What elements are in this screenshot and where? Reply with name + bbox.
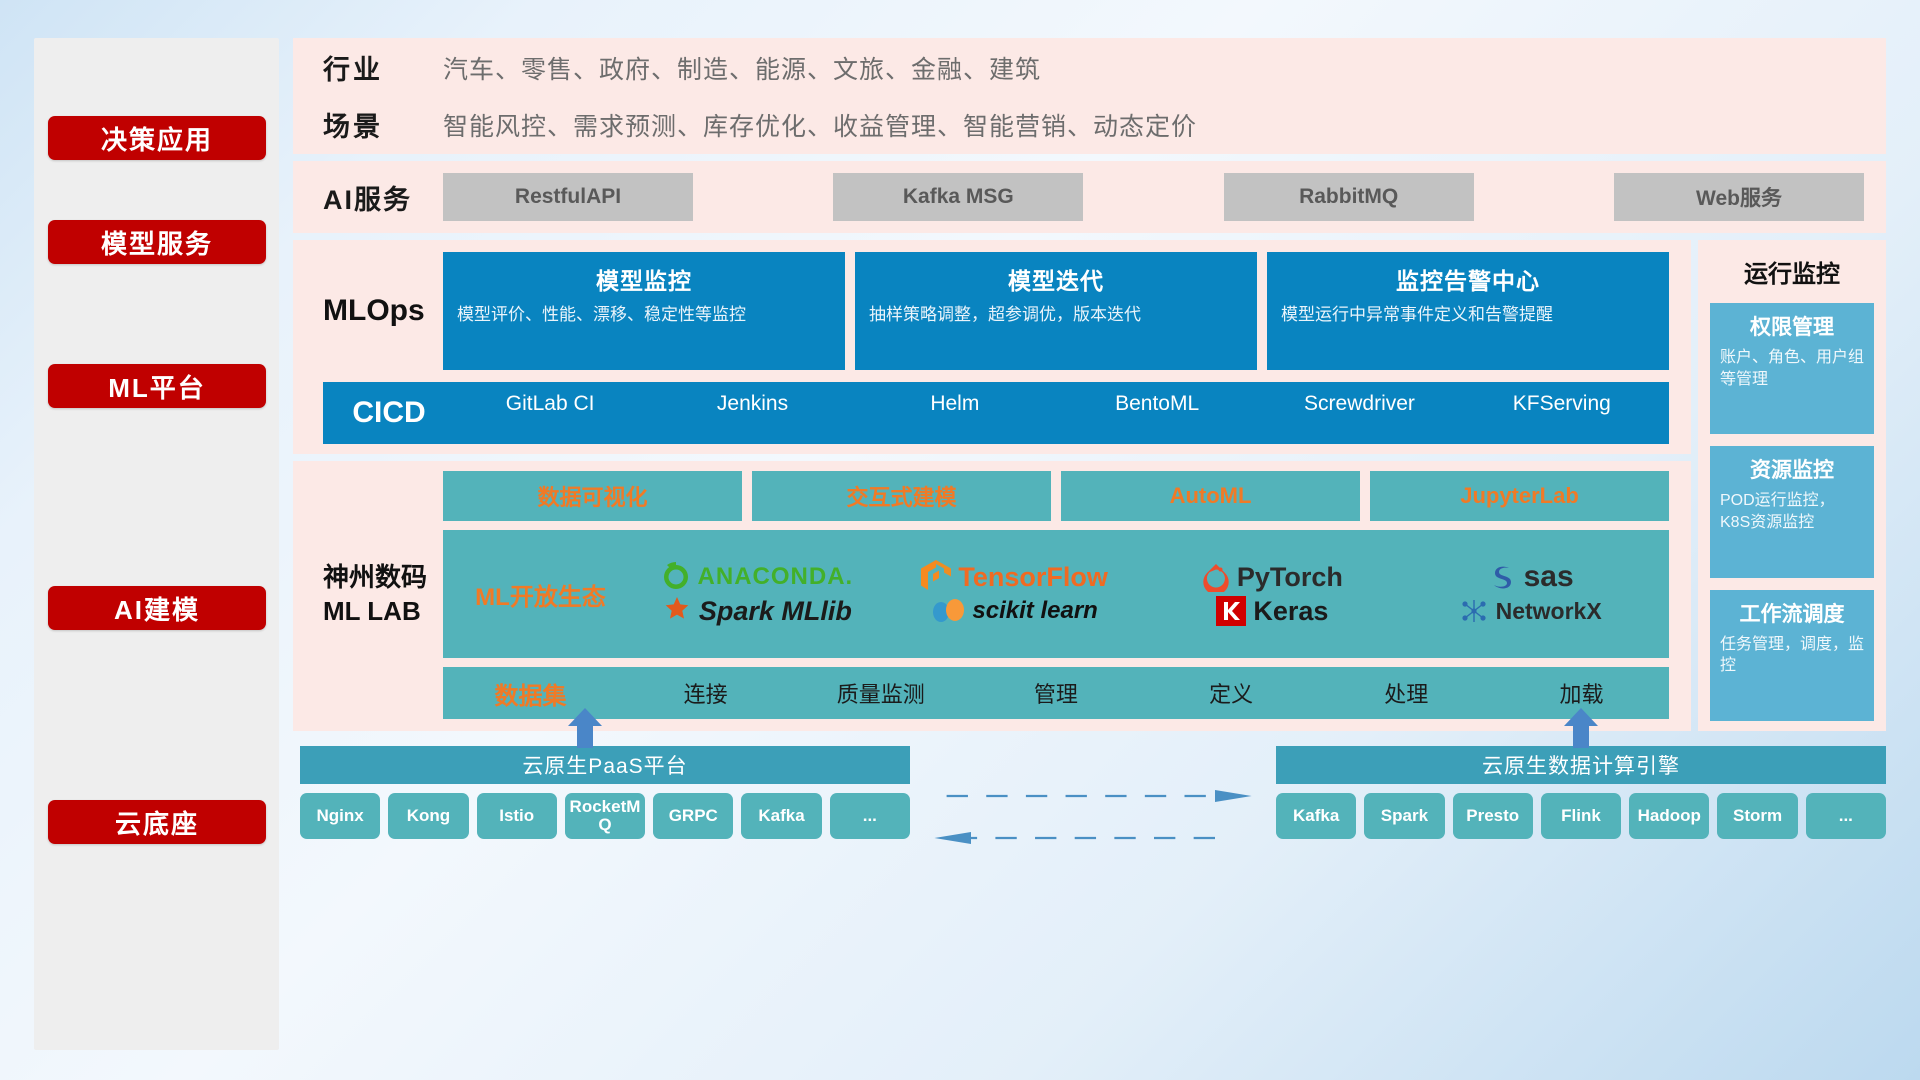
- sas-icon: [1487, 562, 1517, 592]
- main-column: 行业 汽车、零售、政府、制造、能源、文旅、金融、建筑 场景 智能风控、需求预测、…: [293, 38, 1886, 1050]
- mlops-card-model-iteration[interactable]: 模型迭代 抽样策略调整，超参调优，版本迭代: [855, 252, 1257, 370]
- arrow-up-data-engine-icon: [1564, 708, 1598, 748]
- sidebar-item-decision-app[interactable]: 决策应用: [48, 116, 266, 160]
- ml-lab-title-line2: ML LAB: [323, 595, 427, 629]
- industry-values: 汽车、零售、政府、制造、能源、文旅、金融、建筑: [443, 50, 1041, 86]
- logo-networkx: NetworkX: [1459, 596, 1602, 626]
- sidebar-item-ml-platform[interactable]: ML平台: [48, 364, 266, 408]
- runtime-monitoring-column: 运行监控 权限管理 账户、角色、用户组等管理 资源监控 POD运行监控，K8S资…: [1698, 240, 1886, 731]
- monitor-card-resource[interactable]: 资源监控 POD运行监控，K8S资源监控: [1710, 446, 1874, 577]
- chip-storm[interactable]: Storm: [1717, 793, 1797, 839]
- modeling-tab-row: 数据可视化 交互式建模 AutoML JupyterLab: [443, 471, 1669, 521]
- logo-tensorflow: TensorFlow: [921, 560, 1108, 594]
- dataset-item-define[interactable]: 定义: [1144, 677, 1319, 709]
- spark-icon: [662, 596, 692, 626]
- logo-scikit-learn: scikit learn: [931, 596, 1097, 626]
- mlops-card-title: 模型监控: [457, 262, 831, 296]
- cicd-band: CICD GitLab CI Jenkins Helm BentoML Scre…: [293, 382, 1691, 454]
- ai-service-box-kafka-msg[interactable]: Kafka MSG: [833, 173, 1083, 221]
- chip-more-left[interactable]: ...: [830, 793, 910, 839]
- dataset-row: 数据集 连接 质量监测 管理 定义 处理 加载: [443, 667, 1669, 719]
- chip-nginx[interactable]: Nginx: [300, 793, 380, 839]
- platform-column: MLOps 模型监控 模型评价、性能、漂移、稳定性等监控 模型迭代 抽样策略调整…: [293, 240, 1691, 731]
- cloud-link-arrows: [910, 746, 1276, 876]
- logo-anaconda: ANACONDA.: [661, 562, 854, 592]
- cicd-item-helm[interactable]: Helm: [854, 391, 1056, 435]
- chip-grpc[interactable]: GRPC: [653, 793, 733, 839]
- logo-keras: Keras: [1216, 596, 1328, 627]
- cicd-item-screwdriver[interactable]: Screwdriver: [1258, 391, 1460, 435]
- cicd-item-jenkins[interactable]: Jenkins: [651, 391, 853, 435]
- ai-service-box-rabbitmq[interactable]: RabbitMQ: [1224, 173, 1474, 221]
- sidebar-item-label: 模型服务: [101, 224, 213, 261]
- mlops-card-desc: 抽样策略调整，超参调优，版本迭代: [869, 304, 1243, 327]
- dataset-item-connect[interactable]: 连接: [618, 677, 793, 709]
- logo-label: ANACONDA.: [698, 563, 854, 591]
- ml-lab-title-line1: 神州数码: [323, 561, 427, 595]
- logo-label: NetworkX: [1496, 598, 1602, 625]
- runtime-monitoring-title: 运行监控: [1710, 254, 1874, 289]
- tab-automl[interactable]: AutoML: [1061, 471, 1360, 521]
- monitor-card-workflow[interactable]: 工作流调度 任务管理，调度，监控: [1710, 590, 1874, 721]
- arrow-up-paas-icon: [568, 708, 602, 748]
- sidebar-item-label: 决策应用: [101, 120, 213, 157]
- dataset-item-load[interactable]: 加载: [1494, 677, 1669, 709]
- chip-kafka[interactable]: Kafka: [741, 793, 821, 839]
- mlops-card-alert-center[interactable]: 监控告警中心 模型运行中异常事件定义和告警提醒: [1267, 252, 1669, 370]
- monitor-card-desc: 任务管理，调度，监控: [1720, 634, 1864, 677]
- chip-presto[interactable]: Presto: [1453, 793, 1533, 839]
- tab-interactive-modeling[interactable]: 交互式建模: [752, 471, 1051, 521]
- cicd-item-kfserving[interactable]: KFServing: [1461, 391, 1663, 435]
- cloud-foundation-row: 云原生PaaS平台 Nginx Kong Istio RocketMQ GRPC…: [293, 746, 1886, 876]
- sidebar-item-label: AI建模: [114, 590, 200, 627]
- ai-service-box-web[interactable]: Web服务: [1614, 173, 1864, 221]
- ai-modeling-band: 神州数码 ML LAB 数据可视化 交互式建模 AutoML JupyterLa…: [293, 461, 1691, 731]
- logo-label: TensorFlow: [958, 562, 1108, 593]
- ml-ecosystem-panel: ML开放生态 ANACONDA.: [443, 530, 1669, 658]
- monitor-card-desc: 账户、角色、用户组等管理: [1720, 347, 1864, 390]
- keras-icon: [1216, 596, 1246, 626]
- bidirectional-dashed-arrows-icon: [910, 746, 1276, 876]
- dataset-item-quality-monitor[interactable]: 质量监测: [793, 677, 968, 709]
- mlops-band: MLOps 模型监控 模型评价、性能、漂移、稳定性等监控 模型迭代 抽样策略调整…: [293, 240, 1691, 382]
- cloud-data-engine-group: 云原生数据计算引擎 Kafka Spark Presto Flink Hadoo…: [1276, 746, 1886, 876]
- mlops-card-desc: 模型评价、性能、漂移、稳定性等监控: [457, 304, 831, 327]
- logo-sas: sas: [1487, 560, 1574, 594]
- dataset-item-process[interactable]: 处理: [1319, 677, 1494, 709]
- scenario-label: 场景: [323, 105, 443, 144]
- ml-ecosystem-label: ML开放生态: [453, 577, 628, 612]
- monitor-card-title: 工作流调度: [1720, 598, 1864, 628]
- cloud-paas-group: 云原生PaaS平台 Nginx Kong Istio RocketMQ GRPC…: [300, 746, 910, 876]
- sidebar-item-label: 云底座: [115, 804, 199, 841]
- dataset-item-manage[interactable]: 管理: [968, 677, 1143, 709]
- mlops-card-model-monitor[interactable]: 模型监控 模型评价、性能、漂移、稳定性等监控: [443, 252, 845, 370]
- industry-label: 行业: [323, 48, 443, 87]
- anaconda-icon: [661, 562, 691, 592]
- mlops-card-title: 监控告警中心: [1281, 262, 1655, 296]
- ai-service-band: AI服务 RestfulAPI Kafka MSG RabbitMQ Web服务: [293, 161, 1886, 233]
- monitor-card-desc: POD运行监控，K8S资源监控: [1720, 490, 1864, 533]
- sidebar-item-model-service[interactable]: 模型服务: [48, 220, 266, 264]
- chip-flink[interactable]: Flink: [1541, 793, 1621, 839]
- logo-label: scikit learn: [972, 597, 1097, 625]
- networkx-icon: [1459, 596, 1489, 626]
- logo-label: sas: [1524, 560, 1574, 594]
- scenario-row: 场景 智能风控、需求预测、库存优化、收益管理、智能营销、动态定价: [323, 105, 1864, 144]
- scikit-learn-icon: [931, 596, 965, 626]
- cicd-title: CICD: [329, 396, 449, 430]
- pytorch-icon: [1202, 562, 1230, 592]
- sidebar-item-label: ML平台: [108, 368, 206, 405]
- chip-hadoop[interactable]: Hadoop: [1629, 793, 1709, 839]
- tensorflow-icon: [921, 560, 951, 594]
- sidebar-item-cloud-base[interactable]: 云底座: [48, 800, 266, 844]
- mlops-card-title: 模型迭代: [869, 262, 1243, 296]
- chip-rocketmq[interactable]: RocketMQ: [565, 793, 645, 839]
- cicd-row: CICD GitLab CI Jenkins Helm BentoML Scre…: [323, 382, 1669, 444]
- industry-row: 行业 汽车、零售、政府、制造、能源、文旅、金融、建筑: [323, 48, 1864, 87]
- platform-and-monitoring: MLOps 模型监控 模型评价、性能、漂移、稳定性等监控 模型迭代 抽样策略调整…: [293, 240, 1886, 731]
- ml-lab-title: 神州数码 ML LAB: [323, 471, 443, 719]
- mlops-title: MLOps: [323, 294, 443, 328]
- chip-kong[interactable]: Kong: [388, 793, 468, 839]
- mlops-card-desc: 模型运行中异常事件定义和告警提醒: [1281, 304, 1655, 327]
- ai-service-title: AI服务: [323, 178, 443, 217]
- tab-jupyterlab[interactable]: JupyterLab: [1370, 471, 1669, 521]
- layer-rail: 决策应用 模型服务 ML平台 AI建模 云底座: [34, 38, 279, 1050]
- logo-label: PyTorch: [1237, 562, 1343, 593]
- monitor-card-title: 权限管理: [1720, 311, 1864, 341]
- dataset-label: 数据集: [443, 676, 618, 711]
- cicd-item-gitlab-ci[interactable]: GitLab CI: [449, 391, 651, 435]
- cicd-item-bentoml[interactable]: BentoML: [1056, 391, 1258, 435]
- logo-pytorch: PyTorch: [1202, 562, 1343, 593]
- chip-more-right[interactable]: ...: [1806, 793, 1886, 839]
- ai-service-box-restfulapi[interactable]: RestfulAPI: [443, 173, 693, 221]
- diagram-root: 决策应用 模型服务 ML平台 AI建模 云底座 行业 汽车、零售、政府、制造、能…: [0, 0, 1920, 1080]
- scenario-values: 智能风控、需求预测、库存优化、收益管理、智能营销、动态定价: [443, 107, 1197, 143]
- monitor-card-title: 资源监控: [1720, 454, 1864, 484]
- logo-spark-mllib: Spark MLlib: [662, 596, 852, 627]
- logo-label: Keras: [1253, 596, 1328, 627]
- logo-label: Spark MLlib: [699, 596, 852, 627]
- cloud-data-engine-title: 云原生数据计算引擎: [1276, 746, 1886, 784]
- industry-scenario-band: 行业 汽车、零售、政府、制造、能源、文旅、金融、建筑 场景 智能风控、需求预测、…: [293, 38, 1886, 154]
- chip-istio[interactable]: Istio: [477, 793, 557, 839]
- cloud-paas-title: 云原生PaaS平台: [300, 746, 910, 784]
- sidebar-item-ai-modeling[interactable]: AI建模: [48, 586, 266, 630]
- chip-kafka-right[interactable]: Kafka: [1276, 793, 1356, 839]
- monitor-card-permission[interactable]: 权限管理 账户、角色、用户组等管理: [1710, 303, 1874, 434]
- chip-spark[interactable]: Spark: [1364, 793, 1444, 839]
- tab-data-visualization[interactable]: 数据可视化: [443, 471, 742, 521]
